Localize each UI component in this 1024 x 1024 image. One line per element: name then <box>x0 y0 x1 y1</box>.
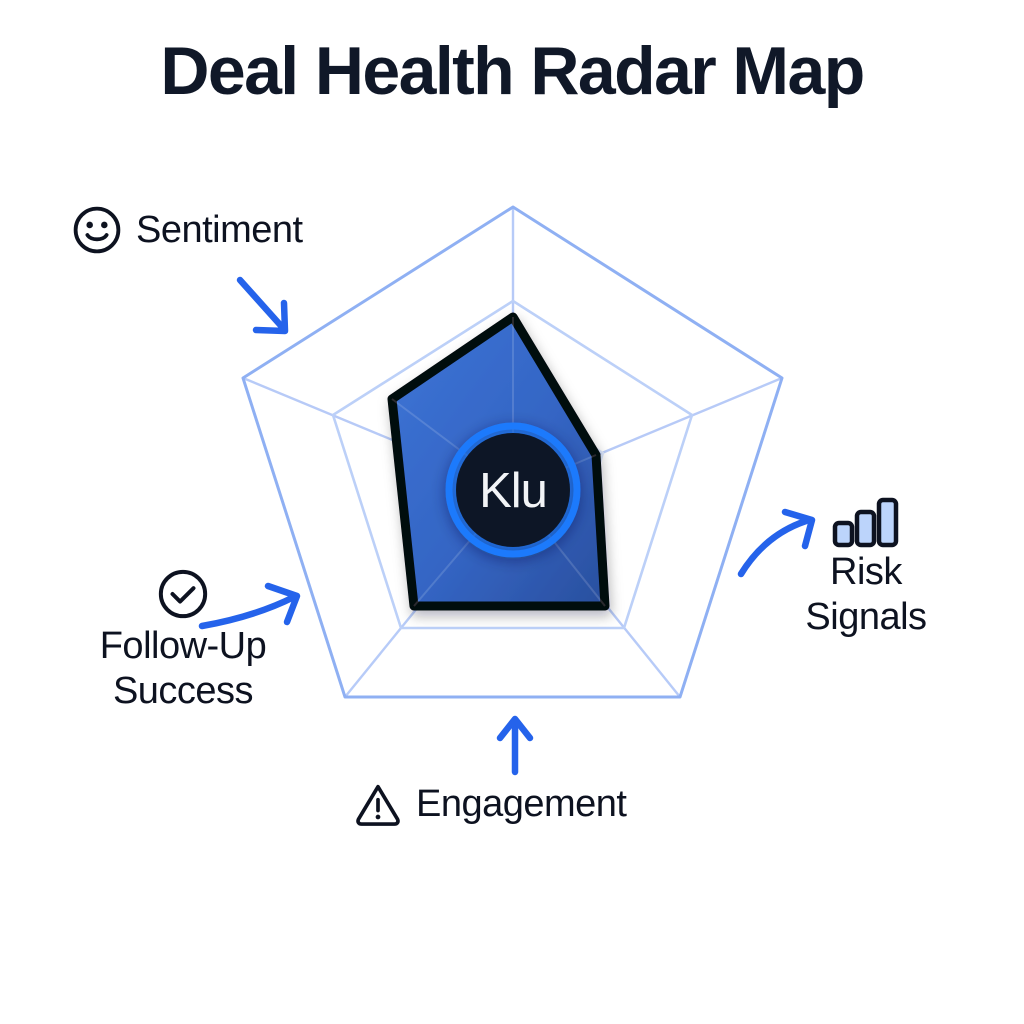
axis-label-engagement-text: Engagement <box>416 784 627 824</box>
axis-label-risk-signals[interactable]: Risk Signals <box>768 496 964 638</box>
axis-label-sentiment-text: Sentiment <box>136 210 303 250</box>
arrow-engagement <box>500 719 530 772</box>
axis-label-sentiment[interactable]: Sentiment <box>70 203 303 257</box>
check-circle-icon <box>155 566 211 622</box>
radar-map-canvas: Deal Health Radar Map <box>0 0 1024 1024</box>
smiley-face-icon <box>70 203 124 257</box>
axis-label-engagement[interactable]: Engagement <box>352 778 627 830</box>
klu-wordmark: Klu <box>479 464 547 518</box>
arrow-sentiment <box>240 280 285 331</box>
warning-triangle-icon <box>352 778 404 830</box>
axis-label-risk-signals-line-2: Signals <box>805 597 926 638</box>
axis-label-follow-up-success[interactable]: Follow-Up Success <box>58 566 308 712</box>
axis-label-follow-up-success-line-1: Follow-Up <box>100 626 267 667</box>
axis-label-follow-up-success-line-2: Success <box>113 671 253 712</box>
bar-chart-icon <box>831 496 901 548</box>
axis-label-risk-signals-line-1: Risk <box>830 552 902 593</box>
